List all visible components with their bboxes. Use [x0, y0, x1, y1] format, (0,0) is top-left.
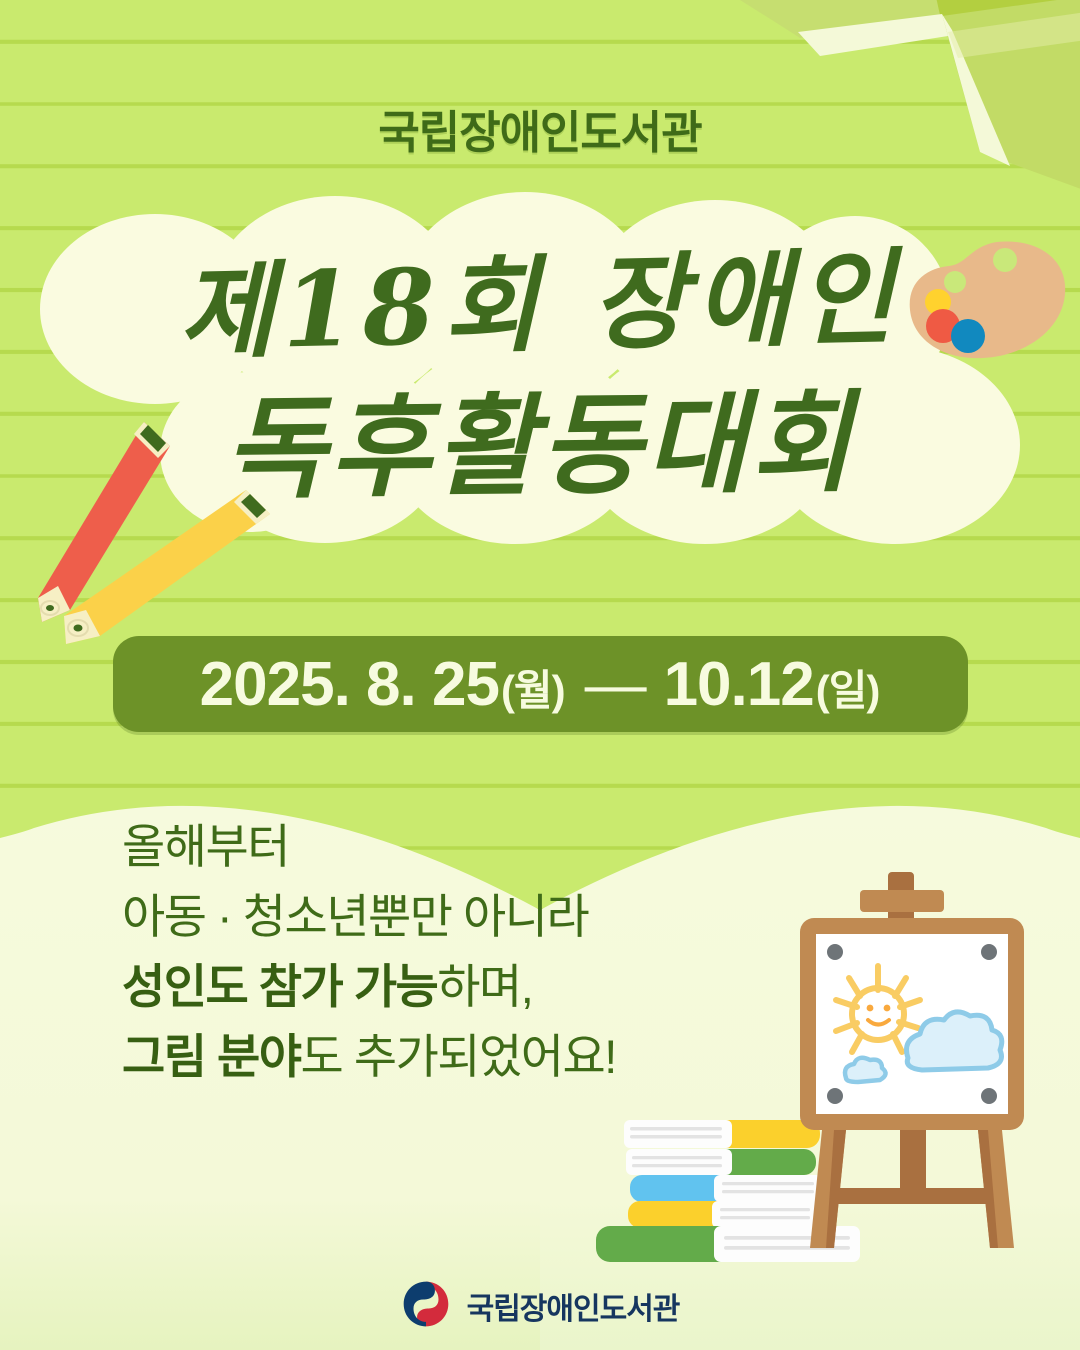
date-range-dash: —: [585, 649, 646, 720]
palette-icon: [905, 238, 1070, 368]
body-text: 올해부터 아동 · 청소년뿐만 아니라 성인도 참가 가능하며, 그림 분야도 …: [122, 812, 822, 1092]
date-start-weekday: (월): [501, 657, 565, 718]
taegeuk-logo-icon: [401, 1279, 451, 1334]
body-line-3: 성인도 참가 가능하며,: [122, 952, 822, 1022]
body-line-3-highlight: 성인도 참가 가능: [122, 960, 437, 1013]
body-line-1: 올해부터: [122, 812, 822, 882]
poster-root: 국립장애인도서관: [0, 0, 1080, 1350]
date-end-weekday: (일): [816, 657, 880, 718]
footer-library-name: 국립장애인도서관: [467, 1284, 680, 1328]
easel-icon: [778, 868, 1078, 1268]
date-start: 2025. 8. 25: [200, 649, 499, 720]
body-line-4: 그림 분야도 추가되었어요!: [122, 1022, 822, 1092]
page-title: 국립장애인도서관: [0, 96, 1080, 161]
body-line-4-rest: 도 추가되었어요!: [301, 1030, 616, 1083]
body-line-2: 아동 · 청소년뿐만 아니라: [122, 882, 822, 952]
event-date-banner: 2025. 8. 25 (월) — 10.12 (일): [113, 636, 968, 732]
body-line-3-rest: 하며,: [437, 960, 532, 1013]
body-line-4-highlight: 그림 분야: [122, 1030, 301, 1083]
footer-branding: 국립장애인도서관: [0, 1276, 1080, 1336]
date-end: 10.12: [664, 649, 814, 720]
